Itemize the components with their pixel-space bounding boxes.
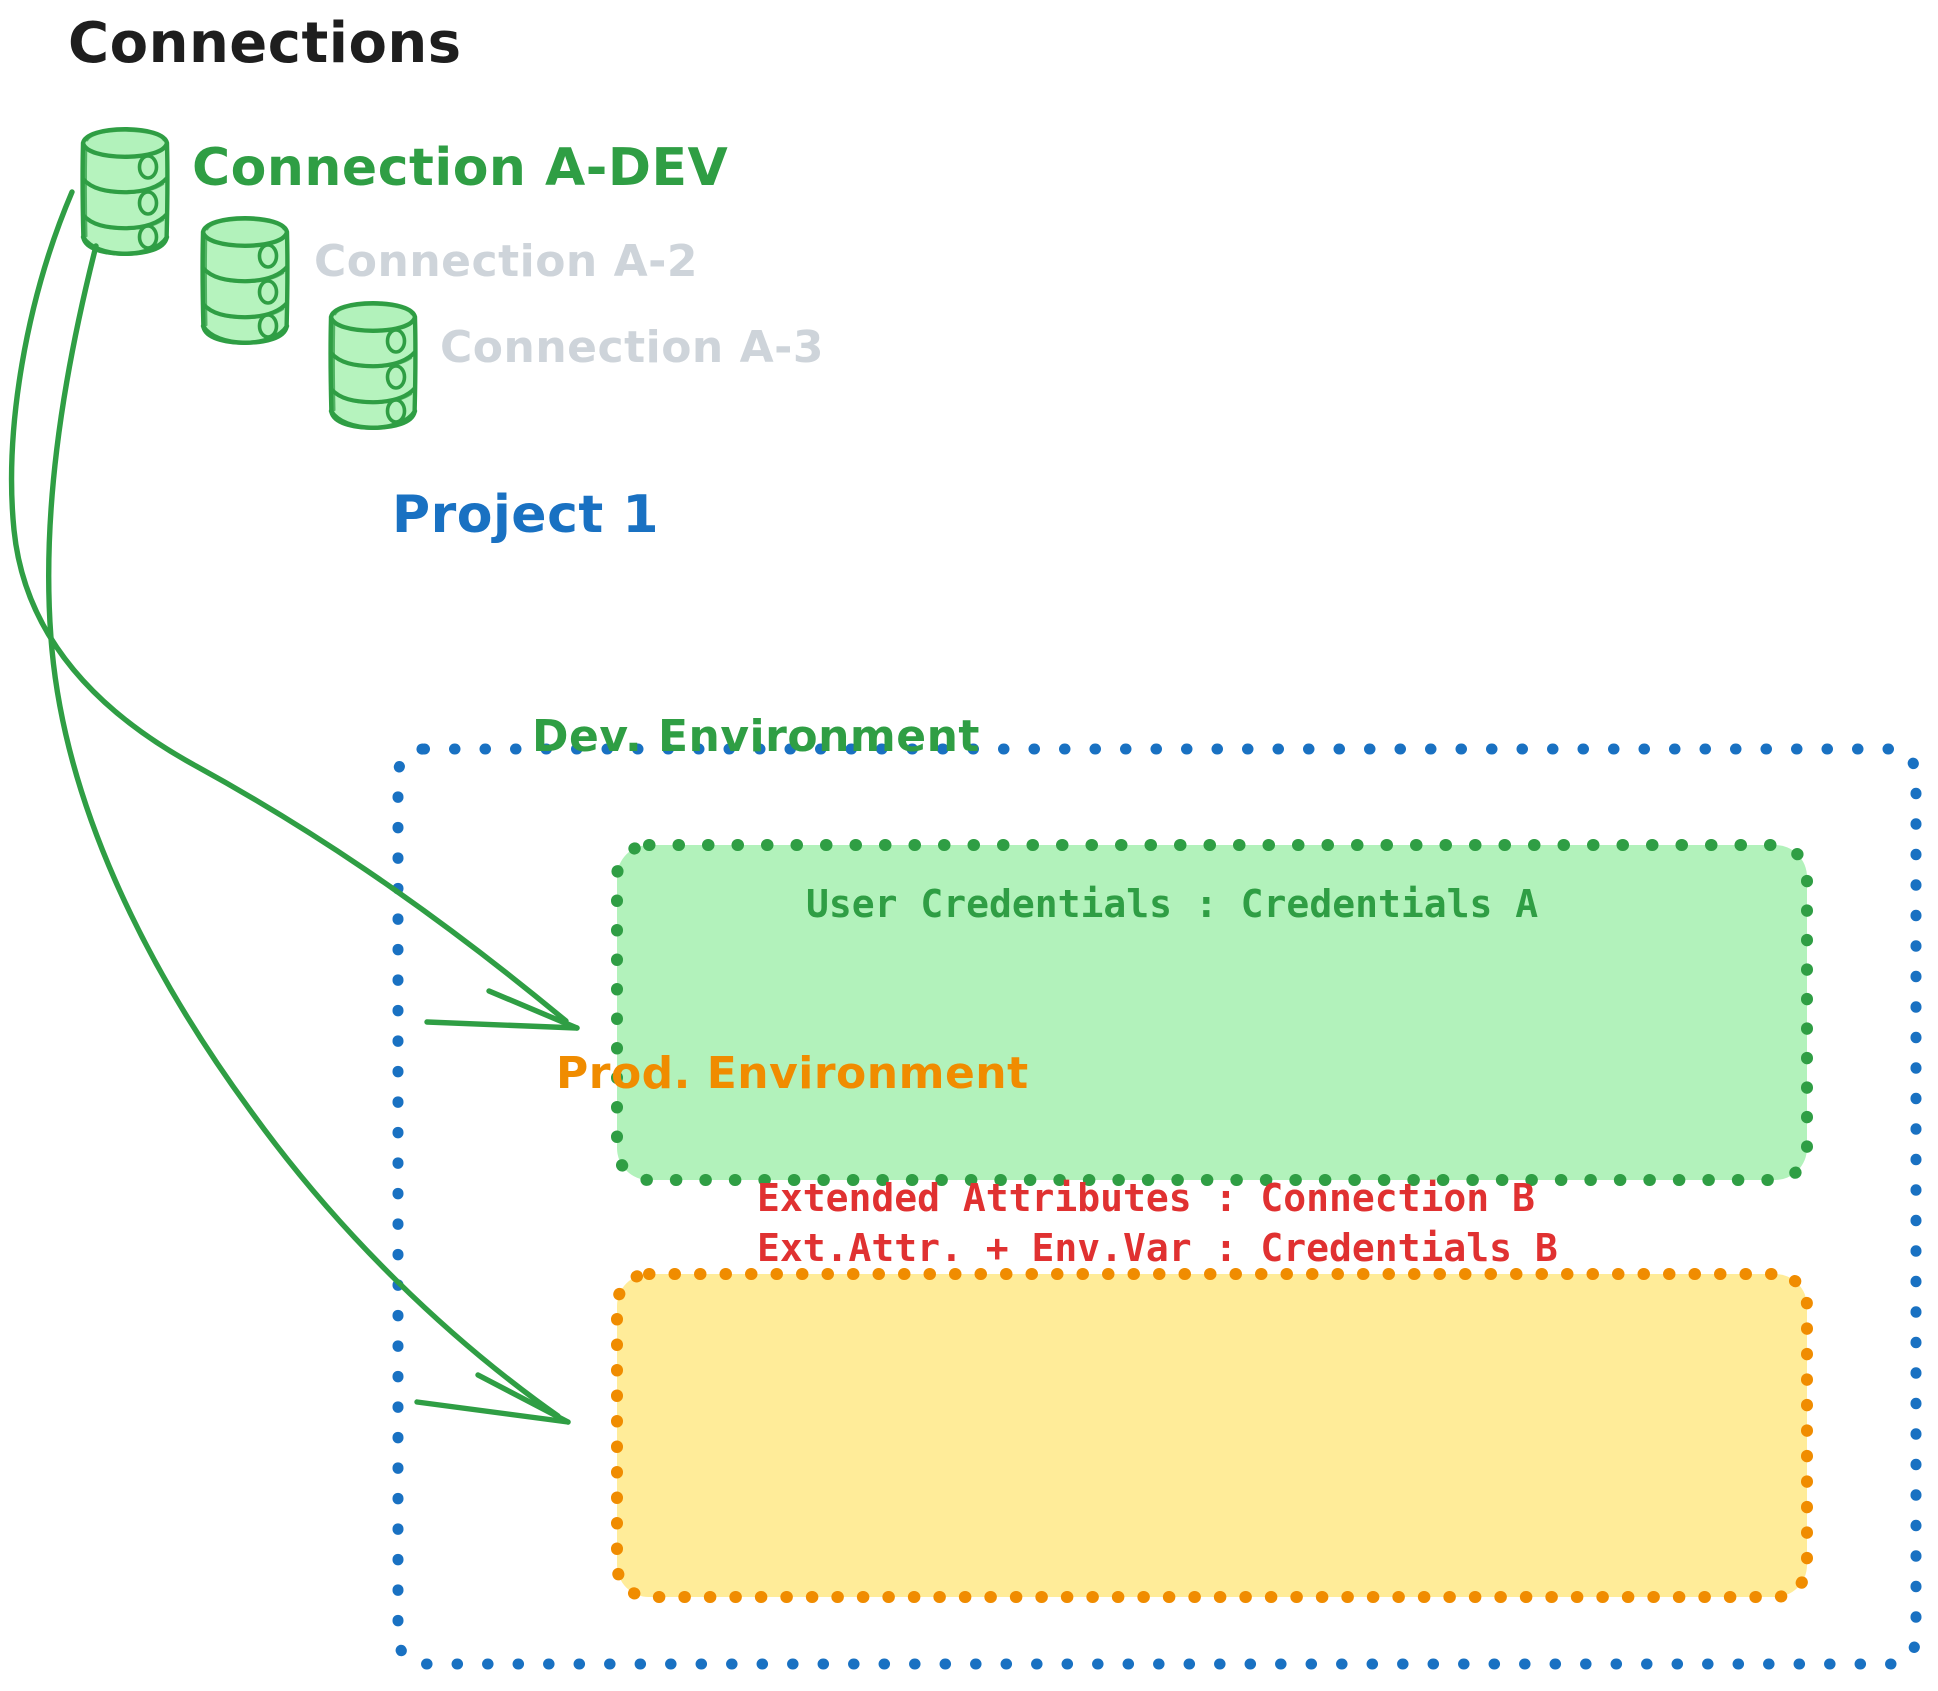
dev-environment-credentials-row: User Credentials : Credentials A <box>806 884 1538 925</box>
connection-label-a-2[interactable]: Connection A-2 <box>314 238 698 286</box>
prod-environment-extended-attributes-row: Extended Attributes : Connection B <box>757 1178 1535 1219</box>
connection-label-a-dev[interactable]: Connection A-DEV <box>192 140 728 196</box>
database-cylinder-icon[interactable] <box>202 218 288 343</box>
project-title: Project 1 <box>392 487 659 543</box>
arrow-conn-to-dev <box>12 192 577 1028</box>
dev-environment-title: Dev. Environment <box>532 713 980 761</box>
prod-environment-title: Prod. Environment <box>556 1050 1029 1098</box>
prod-environment-env-var-row: Ext.Attr. + Env.Var : Credentials B <box>757 1228 1558 1269</box>
prod-environment-box[interactable] <box>617 1274 1807 1597</box>
connection-label-a-3[interactable]: Connection A-3 <box>440 324 824 372</box>
database-cylinder-icon[interactable] <box>82 129 168 254</box>
page-title: Connections <box>68 14 462 74</box>
diagram-canvas: Connections Connection A-DEV Connection … <box>0 0 1938 1691</box>
database-cylinder-icon[interactable] <box>330 303 416 428</box>
diagram-vector-layer <box>0 0 1938 1691</box>
